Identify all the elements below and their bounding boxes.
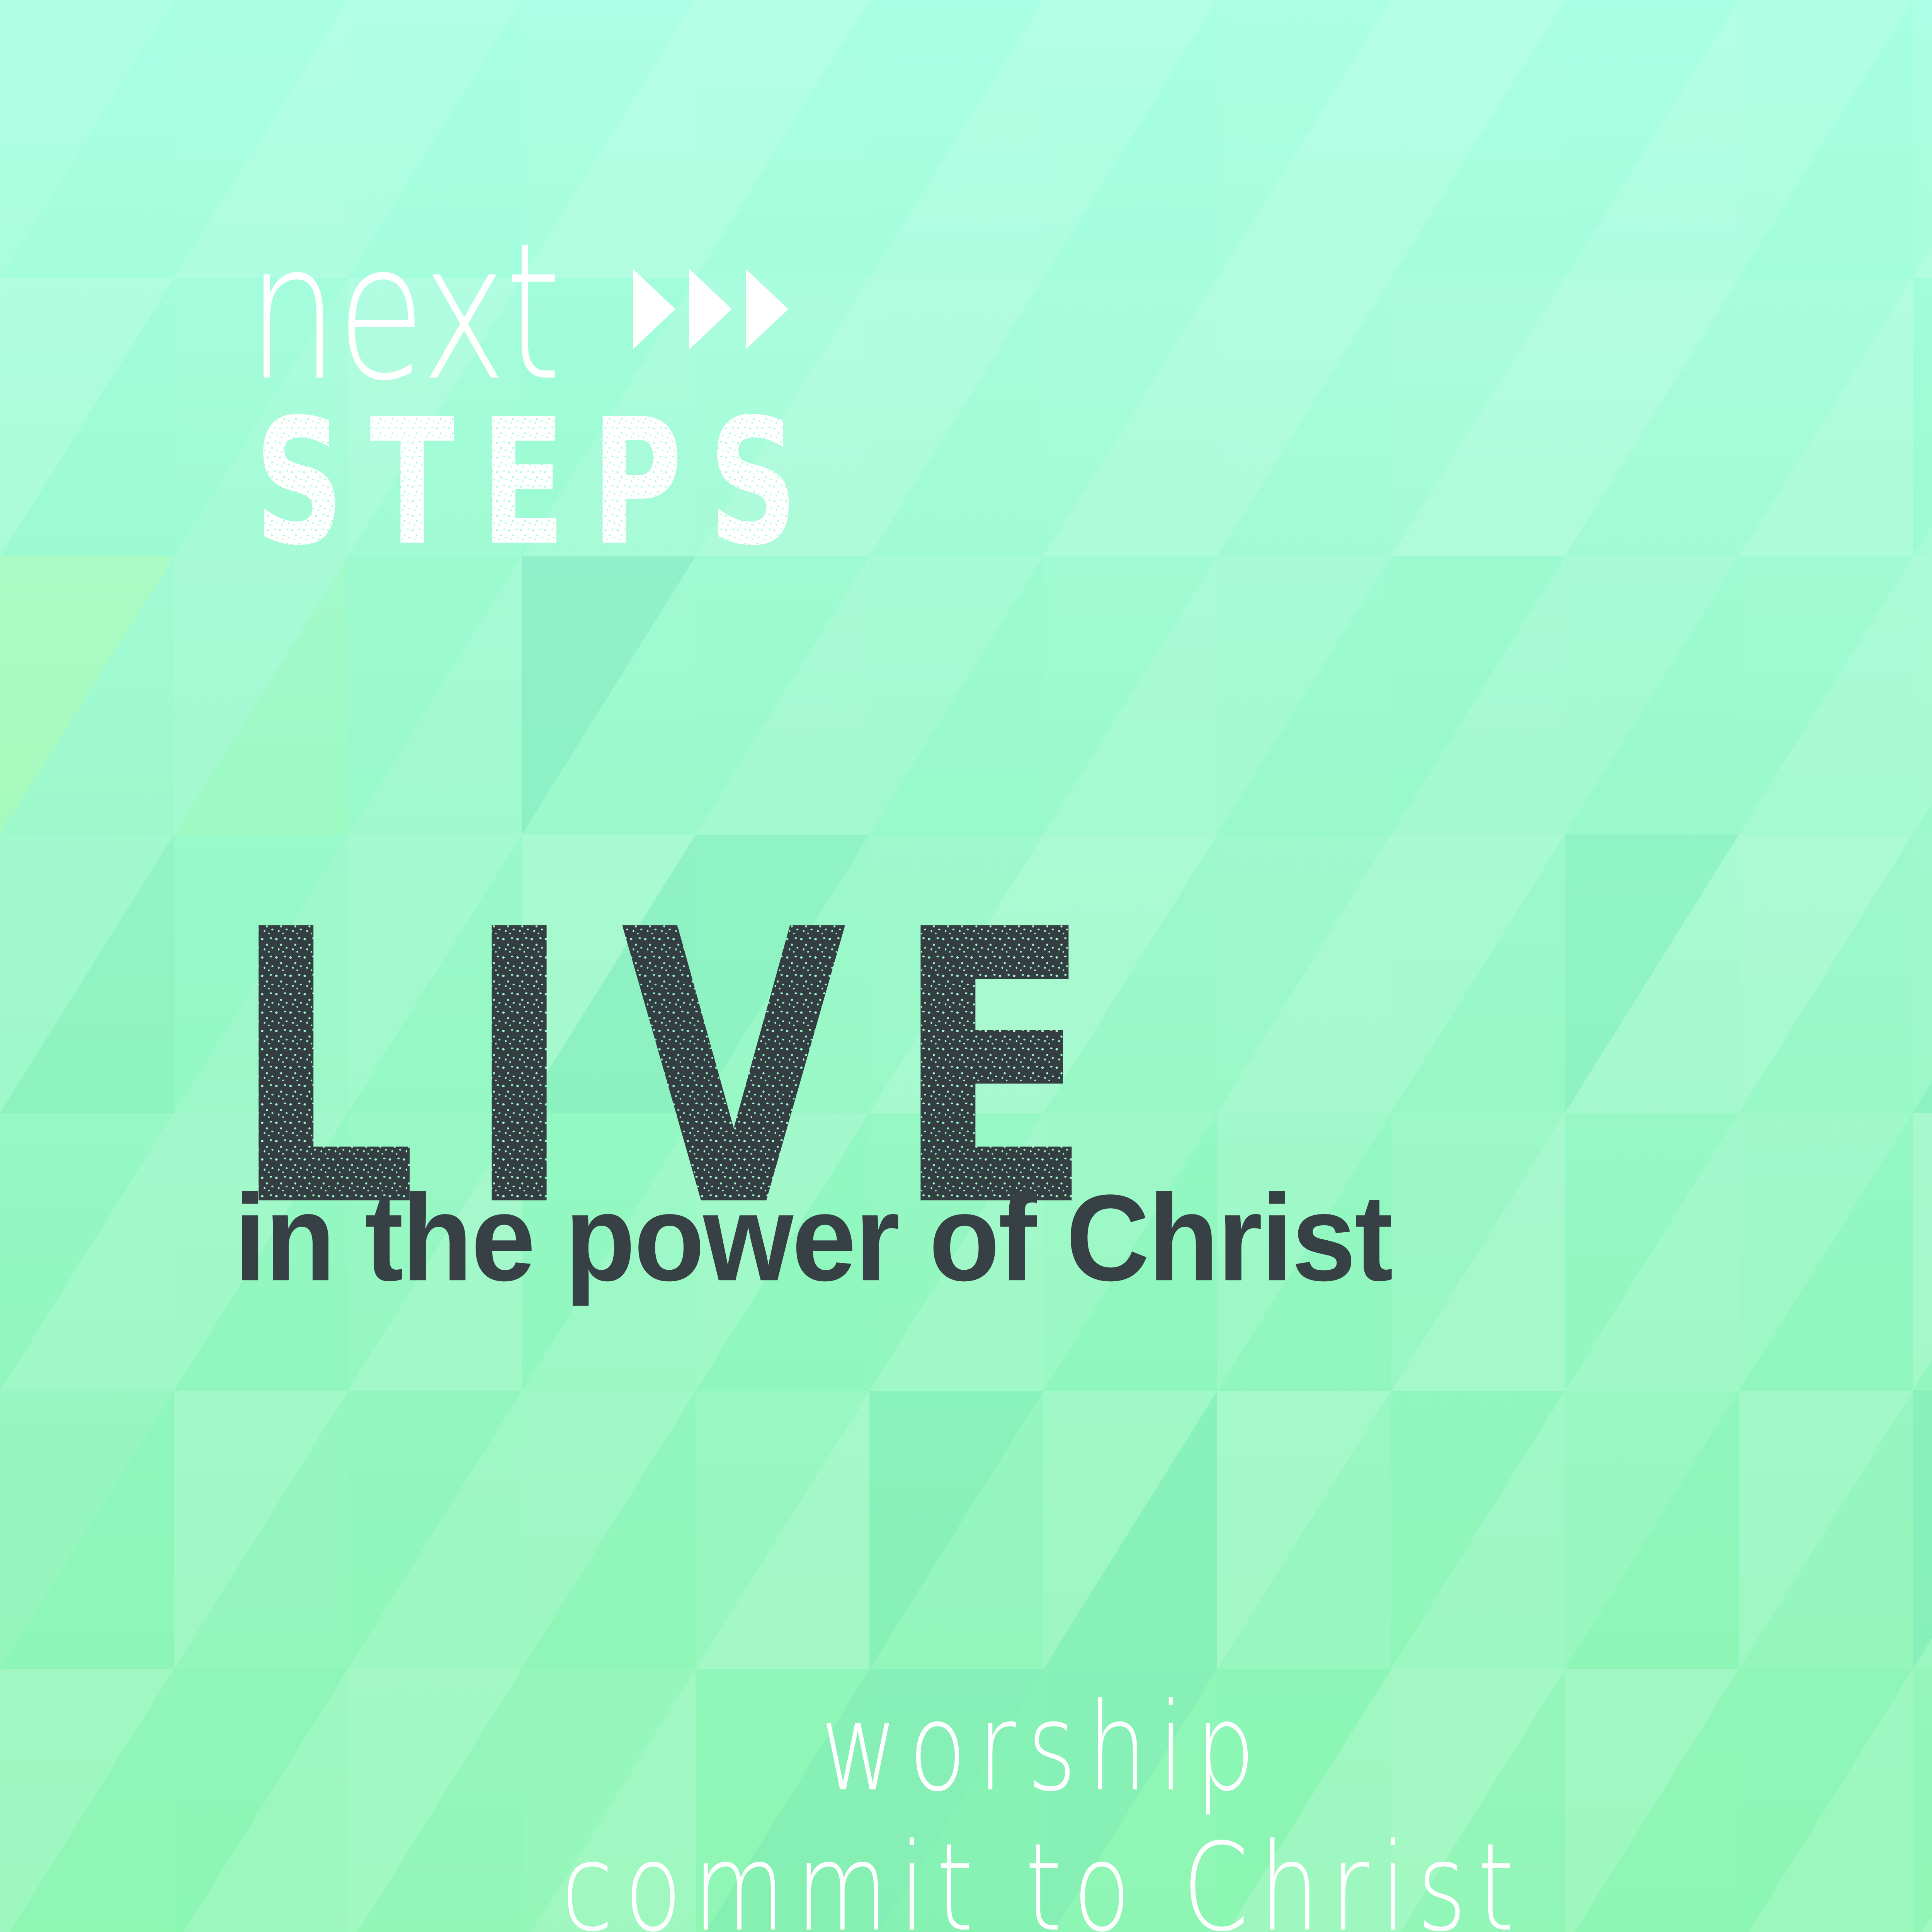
next-logo-row: next bbox=[247, 232, 1445, 394]
step-item-worship: worship bbox=[0, 1687, 1932, 1808]
headline-block: LIVE in the power of Christ bbox=[232, 881, 1893, 1292]
steps-list: worship commit to Christ baptism bbox=[0, 1700, 1932, 1932]
poster-canvas: next STEPS LIVE in the power of Christ w… bbox=[0, 0, 1932, 1932]
next-steps-logo: next STEPS bbox=[247, 232, 1445, 516]
arrow-triple-icon-group bbox=[633, 269, 788, 349]
play-triangle-icon-1 bbox=[633, 269, 675, 349]
poster-content: next STEPS LIVE in the power of Christ w… bbox=[0, 0, 1932, 1932]
headline-subtitle: in the power of Christ bbox=[234, 1176, 1893, 1299]
step-item-commit-to-christ: commit to Christ bbox=[0, 1827, 1932, 1932]
play-triangle-icon-3 bbox=[746, 269, 788, 349]
steps-wordmark: STEPS bbox=[254, 396, 1493, 570]
next-wordmark: next bbox=[247, 226, 560, 400]
play-triangle-icon-2 bbox=[689, 269, 732, 349]
